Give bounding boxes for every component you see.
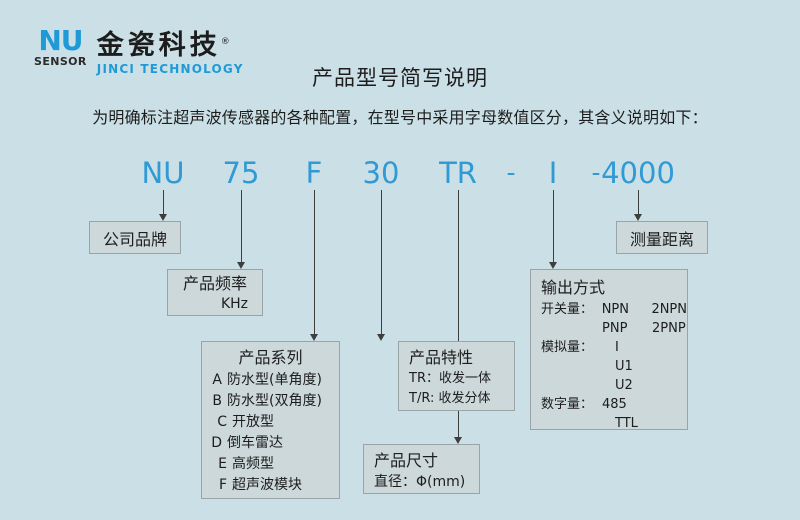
- output-analog-row-1: 模拟量： I: [541, 338, 687, 357]
- box-company-brand: 公司品牌: [89, 221, 181, 254]
- series-item-label: 倒车雷达: [227, 433, 283, 454]
- output-analog-row-2: U1: [541, 357, 687, 376]
- box-product-size-title: 产品尺寸: [374, 449, 479, 472]
- code-separator-1: -: [506, 156, 515, 190]
- characteristic-line-tr: TR：收发一体: [409, 369, 514, 389]
- connector-arrow-series: [310, 334, 318, 341]
- code-part-series: F: [306, 156, 323, 190]
- box-product-frequency: 产品频率 KHz: [167, 269, 263, 316]
- page-subtitle: 为明确标注超声波传感器的各种配置，在型号中采用字母数值区分，其含义说明如下：: [0, 104, 800, 128]
- box-measuring-distance-title: 测量距离: [630, 226, 694, 250]
- code-separator-2: -: [591, 156, 600, 190]
- connector-line-output: [553, 190, 554, 267]
- output-analog-u1: U1: [597, 357, 665, 376]
- output-switch-label: 开关量：: [541, 300, 597, 319]
- output-digital-ttl: TTL: [597, 414, 665, 433]
- series-item-label: 防水型(双角度): [227, 391, 322, 412]
- box-output-mode: 输出方式 开关量： NPN 2NPN PNP 2PNP 模拟量： I U1 U2…: [530, 269, 688, 430]
- page-title: 产品型号简写说明: [0, 62, 800, 92]
- output-analog-label-spacer: [541, 357, 597, 376]
- series-item: A 防水型(单角度): [202, 370, 339, 391]
- size-line-diameter: 直径：Φ(mm): [374, 472, 479, 492]
- connector-line-frequency: [241, 190, 242, 267]
- output-switch-npn: NPN: [597, 300, 652, 319]
- code-part-output: I: [549, 156, 558, 190]
- output-digital-label-spacer: [541, 414, 597, 433]
- code-part-frequency: 75: [223, 156, 260, 190]
- code-part-distance: 4000: [601, 156, 675, 190]
- logo-nu-text: NU: [38, 28, 82, 54]
- output-analog-u2: U2: [597, 376, 665, 395]
- connector-arrow-frequency: [237, 262, 245, 269]
- logo-chinese-name-text: 金瓷科技: [97, 30, 221, 61]
- output-switch-row-1: 开关量： NPN 2NPN: [541, 300, 687, 319]
- box-product-size: 产品尺寸 直径：Φ(mm): [363, 444, 480, 494]
- box-product-frequency-title: 产品频率: [168, 273, 262, 295]
- output-analog-row-3: U2: [541, 376, 687, 395]
- output-digital-label: 数字量：: [541, 395, 597, 414]
- series-item-code: D: [202, 433, 222, 454]
- registered-trademark-icon: ®: [221, 37, 234, 47]
- box-product-characteristic: 产品特性 TR：收发一体 T/R: 收发分体: [398, 341, 515, 411]
- output-digital-485: 485: [597, 395, 652, 414]
- series-item-label: 开放型: [232, 412, 274, 433]
- output-switch-row-2: PNP 2PNP: [541, 319, 687, 338]
- series-item: F 超声波模块: [202, 475, 339, 496]
- series-item-label: 高频型: [232, 454, 274, 475]
- characteristic-line-t-r: T/R: 收发分体: [409, 389, 514, 409]
- connector-arrow-characteristic: [377, 334, 385, 341]
- output-switch-2npn: 2NPN: [651, 300, 687, 319]
- output-switch-label-spacer: [541, 319, 597, 338]
- output-digital-row-1: 数字量： 485: [541, 395, 687, 414]
- connector-arrow-output: [549, 262, 557, 269]
- series-item: B 防水型(双角度): [202, 391, 339, 412]
- box-output-mode-title: 输出方式: [541, 275, 687, 300]
- output-analog-label: 模拟量：: [541, 338, 597, 357]
- box-measuring-distance: 测量距离: [616, 221, 708, 254]
- box-product-series-title: 产品系列: [202, 346, 339, 370]
- connector-line-characteristic: [381, 190, 382, 339]
- output-switch-2pnp: 2PNP: [652, 319, 686, 338]
- output-analog-label-spacer: [541, 376, 597, 395]
- connector-line-series: [314, 190, 315, 339]
- box-product-characteristic-title: 产品特性: [409, 346, 514, 369]
- series-item-label: 超声波模块: [232, 475, 302, 496]
- connector-arrow-brand: [159, 214, 167, 221]
- logo-chinese-name: 金瓷科技®: [97, 28, 244, 60]
- series-item-code: E: [202, 454, 227, 475]
- code-part-brand: NU: [142, 156, 185, 190]
- series-item-code: A: [202, 370, 222, 391]
- series-item-code: F: [202, 475, 227, 496]
- series-item-label: 防水型(单角度): [227, 370, 322, 391]
- series-item: C 开放型: [202, 412, 339, 433]
- box-product-series: 产品系列 A 防水型(单角度) B 防水型(双角度) C 开放型 D 倒车雷达 …: [201, 341, 340, 499]
- box-company-brand-title: 公司品牌: [103, 226, 167, 250]
- output-switch-pnp: PNP: [597, 319, 652, 338]
- code-part-size: 30: [363, 156, 400, 190]
- series-item: E 高频型: [202, 454, 339, 475]
- product-model-diagram: NU SENSOR 金瓷科技® JINCI TECHNOLOGY 产品型号简写说…: [0, 0, 800, 520]
- connector-arrow-distance: [634, 214, 642, 221]
- connector-arrow-size: [454, 437, 462, 444]
- box-product-frequency-unit: KHz: [168, 295, 262, 314]
- series-item-code: B: [202, 391, 222, 412]
- output-analog-i: I: [597, 338, 665, 357]
- code-part-characteristic: TR: [439, 156, 477, 190]
- series-item-code: C: [202, 412, 227, 433]
- series-item: D 倒车雷达: [202, 433, 339, 454]
- output-digital-row-2: TTL: [541, 414, 687, 433]
